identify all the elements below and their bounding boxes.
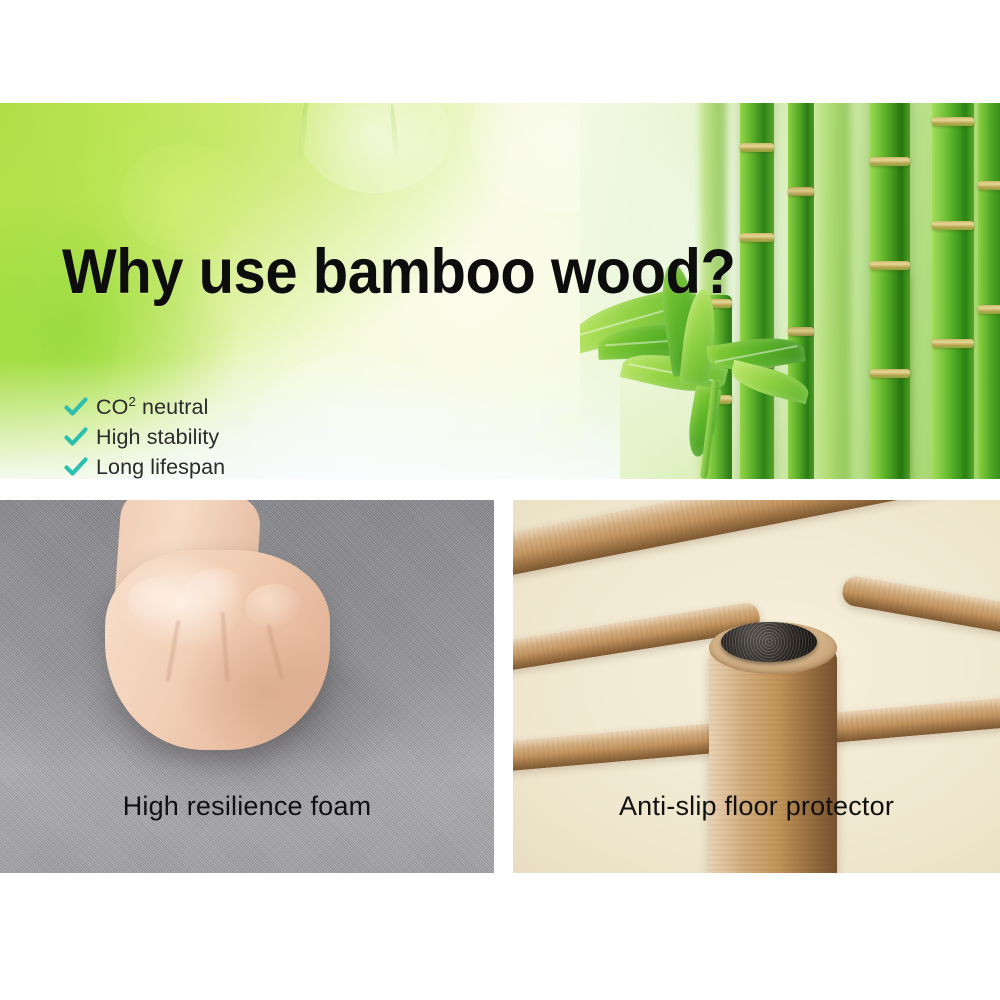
- check-icon: [64, 456, 88, 478]
- bamboo-node-icon: [740, 143, 774, 152]
- list-item-label: CO2 neutral: [96, 394, 208, 420]
- bamboo-stalk-icon: [870, 103, 910, 479]
- bamboo-node-icon: [870, 157, 910, 166]
- skin-crease: [166, 620, 181, 682]
- bamboo-stalk-icon: [932, 103, 974, 479]
- panel-anti-slip-floor-protector: Anti-slip floor protector: [513, 500, 1000, 873]
- grass-streak-icon: [296, 103, 309, 167]
- bamboo-stalk-icon: [740, 103, 774, 479]
- page-title: Why use bamboo wood?: [62, 241, 735, 304]
- knuckle: [127, 578, 187, 624]
- bamboo-node-icon: [788, 327, 814, 336]
- bamboo-stalk-icon: [978, 103, 1000, 479]
- knuckle: [245, 584, 303, 630]
- skin-crease: [266, 624, 283, 679]
- bamboo-leg: [709, 646, 837, 873]
- bamboo-stalk-icon: [816, 103, 850, 479]
- panel-high-resilience-foam: High resilience foam: [0, 500, 494, 873]
- bamboo-node-icon: [932, 339, 974, 348]
- list-item-label: High stability: [96, 425, 219, 450]
- bamboo-node-icon: [978, 305, 1000, 314]
- benefits-list: CO2 neutral High stability Long lifespan: [64, 392, 401, 479]
- check-icon: [64, 396, 88, 418]
- anti-slip-pad-icon: [721, 622, 817, 662]
- list-item-3: Long lifespan: [64, 452, 401, 479]
- bamboo-node-icon: [932, 221, 974, 230]
- grass-streak-icon: [389, 103, 399, 163]
- check-icon: [64, 426, 88, 448]
- panel-caption: High resilience foam: [0, 791, 494, 822]
- bamboo-node-icon: [870, 261, 910, 270]
- product-infographic: Why use bamboo wood? CO2 neutral High st…: [0, 0, 1000, 1000]
- bamboo-node-icon: [978, 181, 1000, 190]
- knuckle: [185, 568, 249, 616]
- fist-pressing-foam: [105, 550, 330, 750]
- list-item-label: Long lifespan: [96, 455, 225, 480]
- bamboo-node-icon: [740, 233, 774, 242]
- list-item-1: CO2 neutral: [64, 392, 401, 422]
- bamboo-stalk-icon: [788, 103, 814, 479]
- list-item-2: High stability: [64, 422, 401, 452]
- bamboo-benefits-banner: Why use bamboo wood? CO2 neutral High st…: [0, 103, 1000, 479]
- bamboo-node-icon: [788, 187, 814, 196]
- bamboo-node-icon: [870, 369, 910, 378]
- skin-crease: [221, 612, 230, 682]
- bokeh-highlight-icon: [300, 103, 450, 193]
- panel-caption: Anti-slip floor protector: [513, 791, 1000, 822]
- bamboo-node-icon: [932, 117, 974, 126]
